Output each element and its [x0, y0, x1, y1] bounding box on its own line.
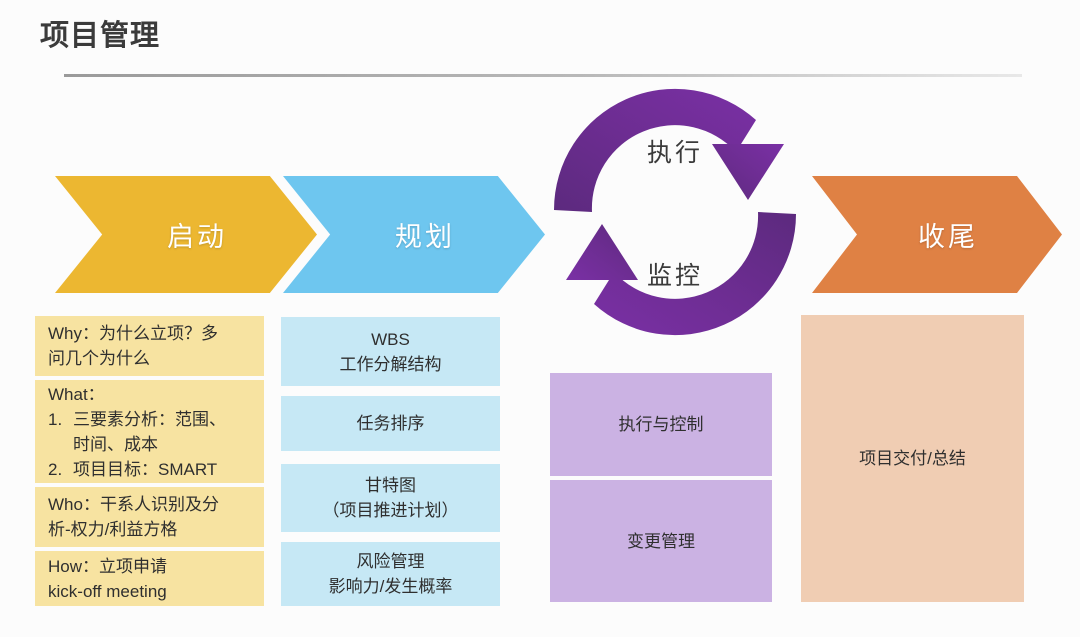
card-executing-control[interactable]: 执行与控制 — [550, 373, 772, 476]
card-line: 任务排序 — [357, 411, 425, 436]
cycle-label-monitor: 监控 — [595, 256, 755, 292]
card-planning-risk-management[interactable]: 风险管理 影响力/发生概率 — [281, 542, 500, 606]
title-divider — [64, 74, 1022, 77]
card-line: 项目交付/总结 — [859, 446, 966, 471]
card-line: Why：为什么立项？多 — [48, 321, 254, 346]
what-list: 1. 三要素分析：范围、 时间、成本 2. 项目目标：SMART — [48, 407, 254, 482]
list-item-text: 项目目标：SMART — [73, 457, 217, 482]
card-line: 执行与控制 — [619, 412, 704, 437]
card-line: 工作分解结构 — [340, 352, 442, 377]
list-item-text: 三要素分析：范围、 时间、成本 — [73, 407, 226, 457]
cycle-label-execute: 执行 — [595, 133, 755, 169]
phase-chevron-initiation[interactable]: 启动 — [55, 176, 317, 293]
card-initiation-what[interactable]: What： 1. 三要素分析：范围、 时间、成本 2. 项目目标：SMART — [35, 380, 264, 483]
card-line: 析-权力/利益方格 — [48, 517, 254, 542]
list-item-number: 2. — [48, 457, 67, 482]
card-line: 甘特图 — [365, 473, 416, 498]
execution-monitoring-cycle: 执行 监控 — [540, 78, 810, 348]
card-line: kick-off meeting — [48, 579, 254, 604]
card-planning-task-sequencing[interactable]: 任务排序 — [281, 396, 500, 451]
card-line: Who：干系人识别及分 — [48, 492, 254, 517]
list-item-number: 1. — [48, 407, 67, 457]
card-closing-delivery[interactable]: 项目交付/总结 — [801, 315, 1024, 602]
card-line: 三要素分析：范围、 — [73, 410, 226, 429]
card-initiation-who[interactable]: Who：干系人识别及分 析-权力/利益方格 — [35, 487, 264, 547]
phase-chevron-planning[interactable]: 规划 — [283, 176, 545, 293]
card-line: 变更管理 — [627, 529, 695, 554]
card-executing-change-management[interactable]: 变更管理 — [550, 480, 772, 602]
phase-label-planning: 规划 — [373, 215, 455, 254]
card-initiation-how[interactable]: How：立项申请 kick-off meeting — [35, 551, 264, 606]
card-line: （项目推进计划） — [323, 498, 459, 523]
phase-label-initiation: 启动 — [145, 215, 227, 254]
card-line: 时间、成本 — [73, 435, 158, 454]
phase-chevron-closing[interactable]: 收尾 — [812, 176, 1062, 293]
card-line: 风险管理 — [357, 549, 425, 574]
card-planning-gantt[interactable]: 甘特图 （项目推进计划） — [281, 464, 500, 532]
card-heading: What： — [48, 382, 254, 407]
list-item: 2. 项目目标：SMART — [48, 457, 254, 482]
page-title: 项目管理 — [40, 16, 160, 56]
card-line: 问几个为什么 — [48, 346, 254, 371]
list-item: 1. 三要素分析：范围、 时间、成本 — [48, 407, 254, 457]
phase-label-closing: 收尾 — [896, 215, 978, 254]
card-line: 影响力/发生概率 — [329, 574, 453, 599]
card-line: WBS — [371, 327, 410, 352]
card-line: How：立项申请 — [48, 554, 254, 579]
card-initiation-why[interactable]: Why：为什么立项？多 问几个为什么 — [35, 316, 264, 376]
card-planning-wbs[interactable]: WBS 工作分解结构 — [281, 317, 500, 386]
